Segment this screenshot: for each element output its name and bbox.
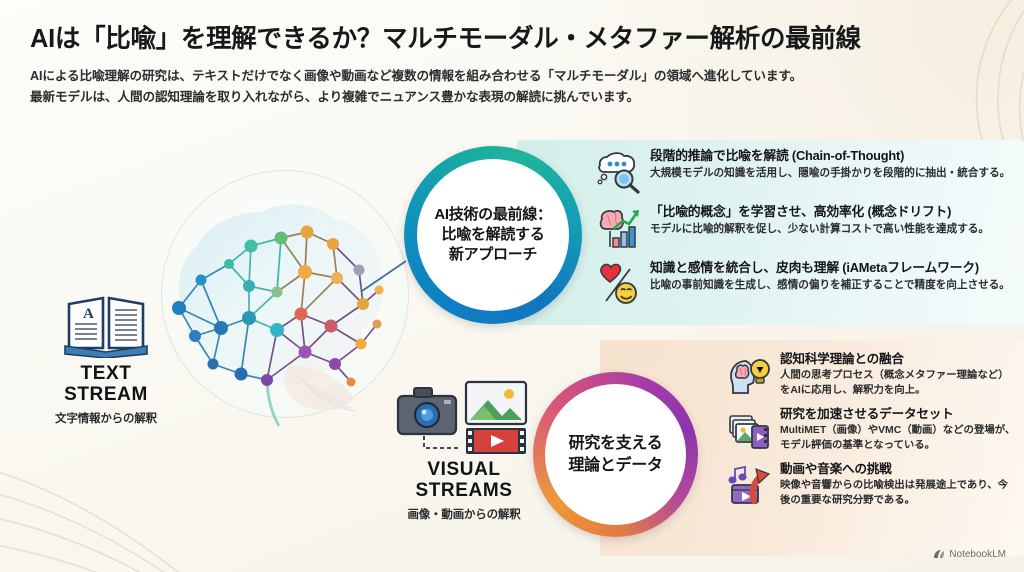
list-item[interactable]: 研究を加速させるデータセット MultiMET（画像）やVMC（動画）などの登場… [726, 407, 1018, 454]
hub-ai-line-3: 新アプローチ [434, 245, 551, 265]
image-icon [466, 382, 526, 424]
list-item[interactable]: 段階的推論で比喩を解読 (Chain-of-Thought) 大規模モデルの知識… [596, 148, 1020, 195]
header: AIは「比喩」を理解できるか？マルチモーダル・メタファー解析の最前線 AIによる… [30, 18, 994, 108]
svg-text:A: A [83, 306, 94, 322]
list-item[interactable]: 認知科学理論との融合 人間の思考プロセス（概念メタファー理論など）をAIに応用し… [726, 352, 1018, 399]
image-stack-film-icon [726, 408, 772, 454]
page-subtitle-line-2: 最新モデルは、人間の認知理論を取り入れながら、より複雑でニュアンス豊かな表現の解… [30, 87, 994, 108]
list-item-body: 映像や音響からの比喩検出は発展途上であり、今後の重要な研究分野である。 [780, 479, 1018, 509]
film-play-icon [466, 428, 526, 454]
stream-text-caption: 文字情報からの解釈 [22, 410, 190, 426]
list-item-title: 知識と感情を統合し、皮肉も理解 (iAMetaフレームワーク) [650, 260, 1020, 276]
hub-ai-frontier[interactable]: AI技術の最前線： 比喩を解読する 新アプローチ [404, 146, 582, 324]
brain-network-illustration [155, 168, 410, 430]
list-item-body: 比喩の事前知識を生成し、感情の偏りを補正することで精度を向上させる。 [650, 278, 1020, 292]
list-item[interactable]: 動画や音楽への挑戦 映像や音響からの比喩検出は発展途上であり、今後の重要な研究分… [726, 462, 1018, 509]
notebooklm-logo-icon [933, 549, 945, 560]
hub-theory-line-1: 研究を支える [568, 433, 662, 454]
hub-ai-label: AI技術の最前線： 比喩を解読する 新アプローチ [434, 205, 551, 264]
list-item-body: 人間の思考プロセス（概念メタファー理論など）をAIに応用し、解釈力を向上。 [780, 369, 1018, 399]
brain-growth-chart-icon [596, 205, 642, 251]
list-item-title: 段階的推論で比喩を解読 (Chain-of-Thought) [650, 148, 1020, 164]
stream-visual-title-line-2: STREAMS [384, 481, 544, 502]
watermark: NotebookLM [933, 549, 1006, 560]
dashed-connector-icon [424, 436, 460, 448]
stream-visual-icons [384, 378, 544, 456]
open-book-icon: A [63, 288, 149, 358]
list-item-body: 大規模モデルの知識を活用し、隠喩の手掛かりを段階的に抽出・統合する。 [650, 166, 1020, 180]
stream-visual-title-line-1: VISUAL [384, 460, 544, 481]
camera-icon [398, 388, 456, 434]
stream-text-title: TEXT STREAM [22, 364, 190, 405]
page-title: AIは「比喩」を理解できるか？マルチモーダル・メタファー解析の最前線 [30, 18, 994, 55]
watermark-label: NotebookLM [949, 549, 1006, 560]
theory-data-list: 認知科学理論との融合 人間の思考プロセス（概念メタファー理論など）をAIに応用し… [726, 352, 1018, 509]
stream-text: A TEXT STREAM 文字情報からの解釈 [22, 288, 190, 426]
hub-theory-label: 研究を支える 理論とデータ [568, 433, 662, 475]
list-item-body: モデルに比喩的解釈を促し、少ない計算コストで高い性能を達成する。 [650, 222, 1020, 236]
hub-theory-data[interactable]: 研究を支える 理論とデータ [533, 372, 698, 537]
head-brain-bulb-icon [726, 353, 772, 399]
hub-ai-line-1: AI技術の最前線： [434, 205, 551, 225]
thought-bubble-magnifier-icon [596, 149, 642, 195]
hub-theory-line-2: 理論とデータ [568, 455, 662, 476]
ai-approach-list: 段階的推論で比喩を解読 (Chain-of-Thought) 大規模モデルの知識… [596, 148, 1020, 307]
stream-text-title-line-1: TEXT [22, 364, 190, 385]
page-subtitle: AIによる比喩理解の研究は、テキストだけでなく画像や動画など複数の情報を組み合わ… [30, 66, 994, 108]
hub-ai-line-2: 比喩を解読する [434, 225, 551, 245]
infographic-canvas: AIは「比喩」を理解できるか？マルチモーダル・メタファー解析の最前線 AIによる… [0, 0, 1024, 572]
music-video-arrow-icon [726, 463, 772, 509]
stream-text-icons: A [22, 288, 190, 358]
stream-visual-title: VISUAL STREAMS [384, 460, 544, 501]
stream-text-title-line-2: STREAM [22, 385, 190, 406]
heart-smiley-icon [596, 261, 642, 307]
stream-visual: VISUAL STREAMS 画像・動画からの解釈 [384, 378, 544, 522]
decorative-swoosh-bottom-left [0, 442, 320, 572]
list-item-body: MultiMET（画像）やVMC（動画）などの登場が、モデル評価の基準となってい… [780, 424, 1018, 454]
stream-visual-caption: 画像・動画からの解釈 [384, 506, 544, 522]
brain-network-graph [155, 168, 410, 430]
list-item-title: 認知科学理論との融合 [780, 352, 1018, 367]
list-item-title: 動画や音楽への挑戦 [780, 462, 1018, 477]
list-item[interactable]: 知識と感情を統合し、皮肉も理解 (iAMetaフレームワーク) 比喩の事前知識を… [596, 260, 1020, 307]
page-subtitle-line-1: AIによる比喩理解の研究は、テキストだけでなく画像や動画など複数の情報を組み合わ… [30, 66, 994, 87]
list-item[interactable]: 「比喩的概念」を学習させ、高効率化 (概念ドリフト) モデルに比喩的解釈を促し、… [596, 204, 1020, 251]
list-item-title: 研究を加速させるデータセット [780, 407, 1018, 422]
list-item-title: 「比喩的概念」を学習させ、高効率化 (概念ドリフト) [650, 204, 1020, 220]
